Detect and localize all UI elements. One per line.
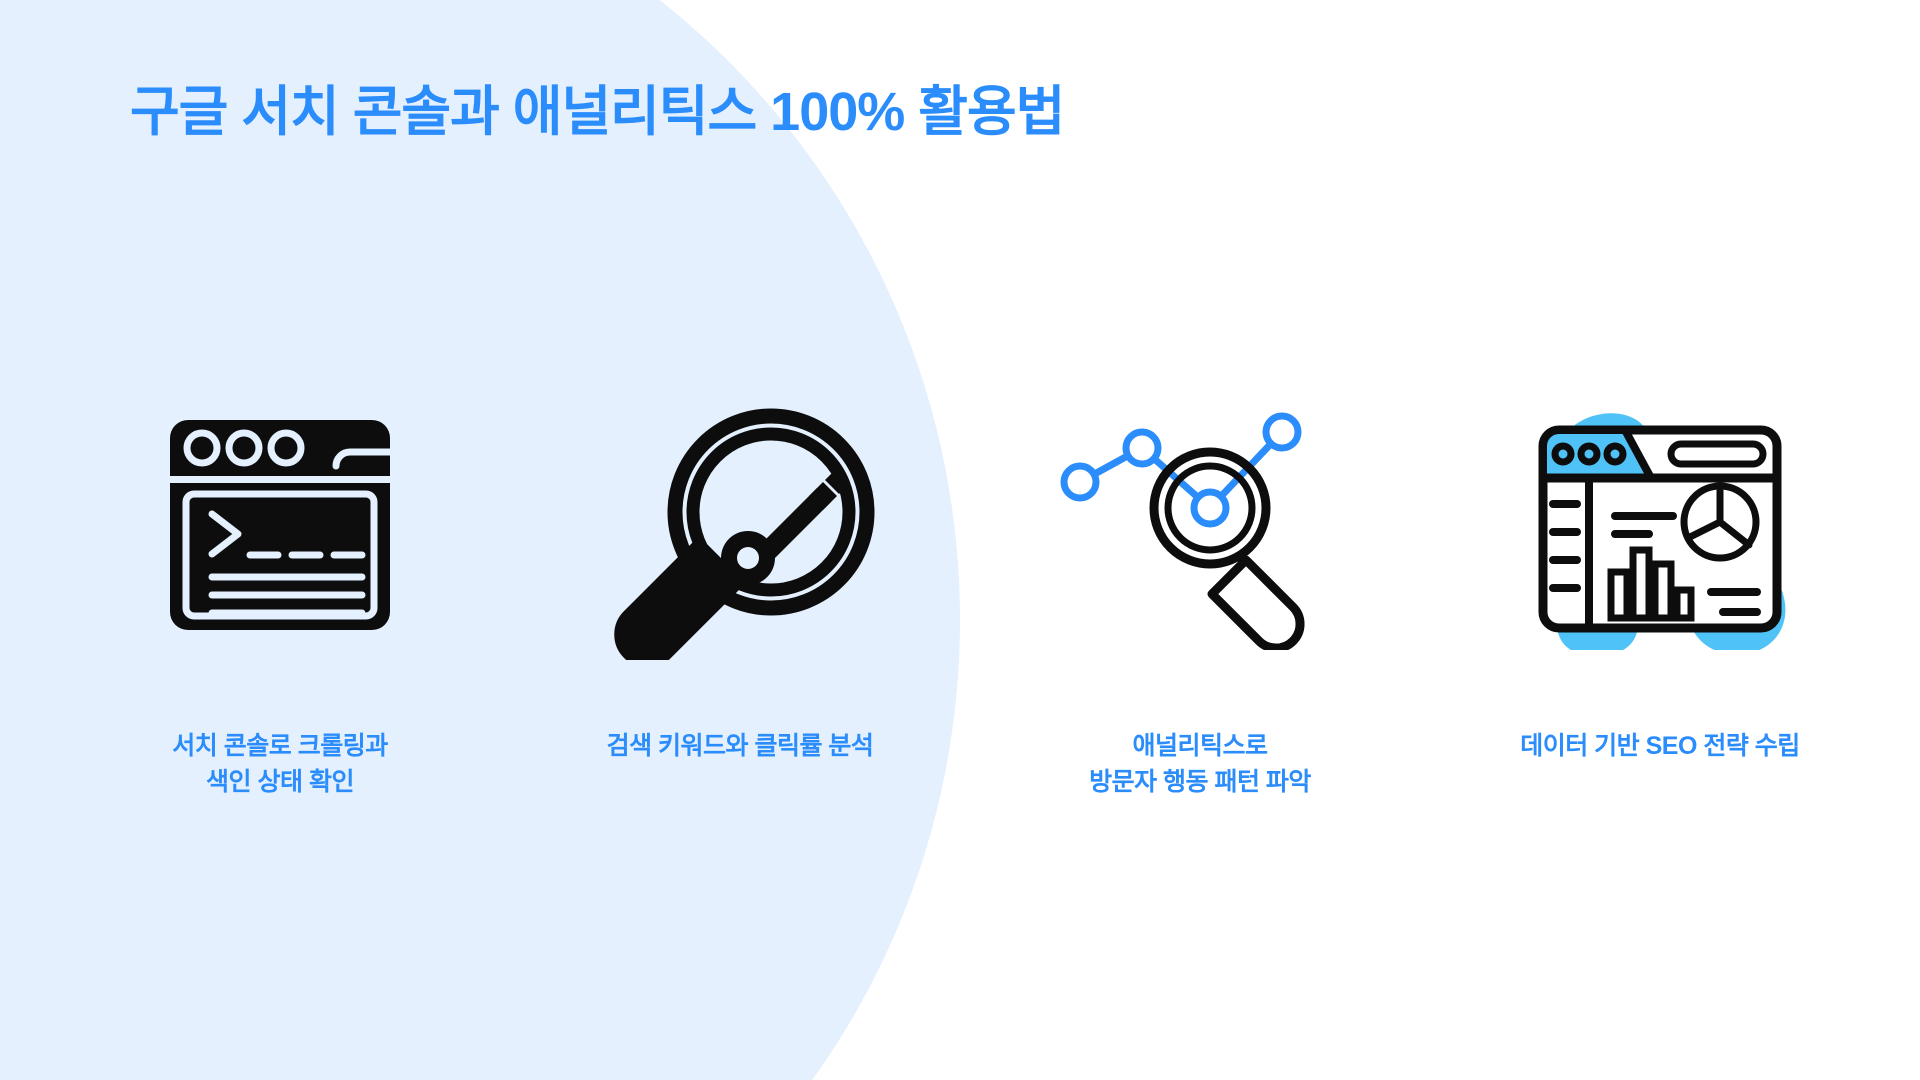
icon-container [1525,380,1795,670]
magnifier-key-icon [595,390,885,660]
feature-card-caption: 서치 콘솔로 크롤링과 색인 상태 확인 [172,728,387,801]
feature-card-seo-strategy[interactable]: 데이터 기반 SEO 전략 수립 [1460,380,1860,764]
icon-container [160,380,400,670]
dashboard-charts-icon [1525,400,1795,650]
magnifier-analytics-icon [1050,400,1350,650]
slide-canvas: 구글 서치 콘솔과 애널리틱스 100% 활용법 [0,0,1920,1080]
feature-card-search-console[interactable]: 서치 콘솔로 크롤링과 색인 상태 확인 [80,380,480,801]
feature-card-analytics[interactable]: 애널리틱스로 방문자 행동 패턴 파악 [1000,380,1400,801]
icon-container [595,380,885,670]
terminal-window-icon [160,410,400,640]
feature-card-caption: 검색 키워드와 클릭률 분석 [607,728,874,764]
icon-container [1050,380,1350,670]
feature-card-keyword-ctr[interactable]: 검색 키워드와 클릭률 분석 [540,380,940,764]
page-title: 구글 서치 콘솔과 애널리틱스 100% 활용법 [130,80,1064,145]
feature-card-row: 서치 콘솔로 크롤링과 색인 상태 확인 [80,380,1860,801]
feature-card-caption: 데이터 기반 SEO 전략 수립 [1520,728,1800,764]
feature-card-caption: 애널리틱스로 방문자 행동 패턴 파악 [1089,728,1311,801]
